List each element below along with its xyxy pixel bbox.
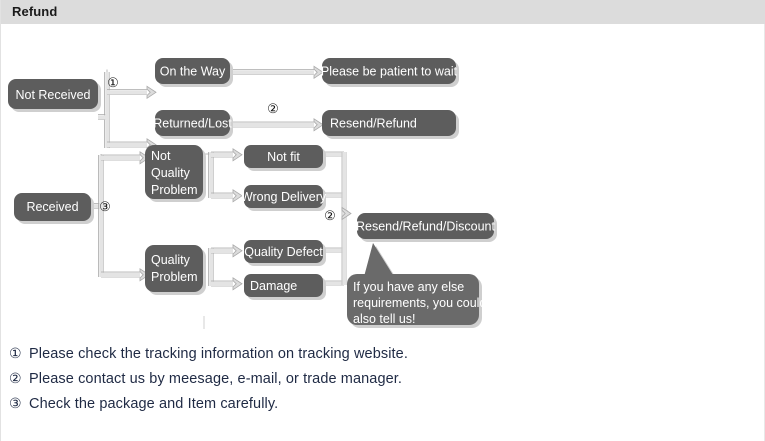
note-item: ③ Check the package and Item carefully. (9, 395, 609, 420)
marker-three: ③ (99, 199, 111, 214)
refund-page: Refund (0, 0, 765, 441)
node-quality-defect-label: Quality Defect (244, 245, 323, 259)
flowchart-svg: ① ② ③ ② Not Received On the Way Returned… (1, 24, 765, 334)
note-text: Check the package and Item carefully. (25, 396, 278, 412)
page-title: Refund (12, 4, 57, 19)
node-returned-lost-label: Returned/Lost (153, 117, 232, 131)
node-nqp-line-2: Quality (151, 166, 191, 180)
node-not-fit[interactable]: Not fit (244, 145, 326, 171)
node-returned-lost[interactable]: Returned/Lost (153, 110, 233, 139)
marker-two-top: ② (267, 101, 279, 116)
footer-notes: ① Please check the tracking information … (9, 345, 609, 420)
node-resend-refund-discount-label: Resend/Refund/Discount (356, 220, 495, 234)
node-on-the-way[interactable]: On the Way (155, 58, 233, 87)
connector-on-the-way-to-wait (230, 66, 323, 78)
node-not-quality-problem[interactable]: Not Quality Problem (145, 145, 206, 202)
bubble-line-1: If you have any else (353, 280, 464, 294)
node-not-fit-label: Not fit (267, 150, 300, 164)
node-please-wait[interactable]: Please be patient to wait (321, 58, 459, 87)
node-please-wait-label: Please be patient to wait (321, 65, 458, 79)
node-qp-line-1: Quality (151, 253, 191, 267)
connector-returned-lost-to-resend (230, 119, 323, 131)
node-quality-problem[interactable]: Quality Problem (145, 245, 206, 295)
refund-flowchart: ① ② ③ ② Not Received On the Way Returned… (1, 24, 765, 334)
node-nqp-line-1: Not (151, 149, 171, 163)
node-received[interactable]: Received (14, 193, 94, 224)
speech-bubble: If you have any else requirements, you c… (347, 243, 486, 328)
note-text: Please check the tracking information on… (25, 346, 408, 362)
node-quality-defect[interactable]: Quality Defect (244, 240, 326, 266)
node-resend-refund[interactable]: Resend/Refund (322, 110, 459, 139)
node-damage[interactable]: Damage (244, 274, 326, 300)
node-wrong-delivery[interactable]: Wrong Delivery (241, 185, 327, 211)
node-resend-refund-label: Resend/Refund (330, 117, 417, 131)
node-not-received[interactable]: Not Received (8, 79, 101, 112)
bubble-line-3: also tell us! (353, 312, 416, 326)
marker-two-bottom: ② (324, 208, 336, 223)
node-on-the-way-label: On the Way (160, 65, 226, 79)
node-damage-label: Damage (250, 279, 297, 293)
connector-received-split (91, 152, 149, 281)
note-number: ③ (9, 395, 25, 412)
note-number: ② (9, 370, 25, 387)
note-item: ① Please check the tracking information … (9, 345, 609, 370)
node-nqp-line-3: Problem (151, 183, 198, 197)
connector-qp-split (209, 245, 243, 290)
node-received-label: Received (26, 200, 78, 214)
connector-nqp-split (203, 149, 242, 202)
node-wrong-delivery-label: Wrong Delivery (241, 190, 327, 204)
header-bar: Refund (1, 0, 765, 24)
note-text: Please contact us by meesage, e-mail, or… (25, 371, 402, 387)
note-item: ② Please contact us by meesage, e-mail, … (9, 370, 609, 395)
note-number: ① (9, 345, 25, 362)
node-not-received-label: Not Received (15, 88, 90, 102)
node-resend-refund-discount[interactable]: Resend/Refund/Discount (356, 213, 497, 242)
bubble-line-2: requirements, you could (353, 296, 486, 310)
marker-one: ① (107, 75, 119, 90)
node-qp-line-2: Problem (151, 270, 198, 284)
